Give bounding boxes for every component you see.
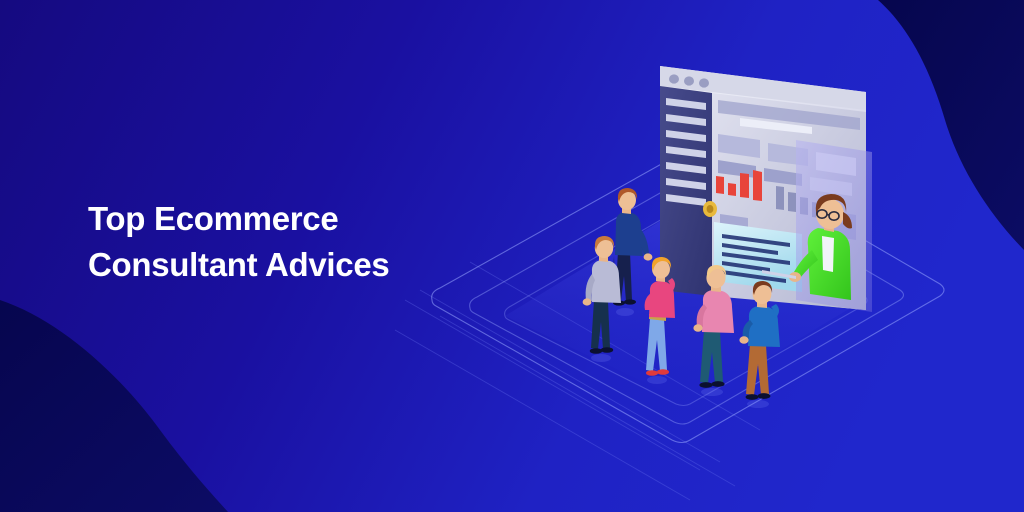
headline-line-2: Consultant Advices — [88, 242, 518, 288]
headline-line-1: Top Ecommerce — [88, 196, 518, 242]
banner-root: Top Ecommerce Consultant Advices — [0, 0, 1024, 512]
gold-coin-icon — [703, 201, 717, 217]
page-title: Top Ecommerce Consultant Advices — [88, 196, 518, 288]
cyan-info-card — [714, 222, 802, 292]
